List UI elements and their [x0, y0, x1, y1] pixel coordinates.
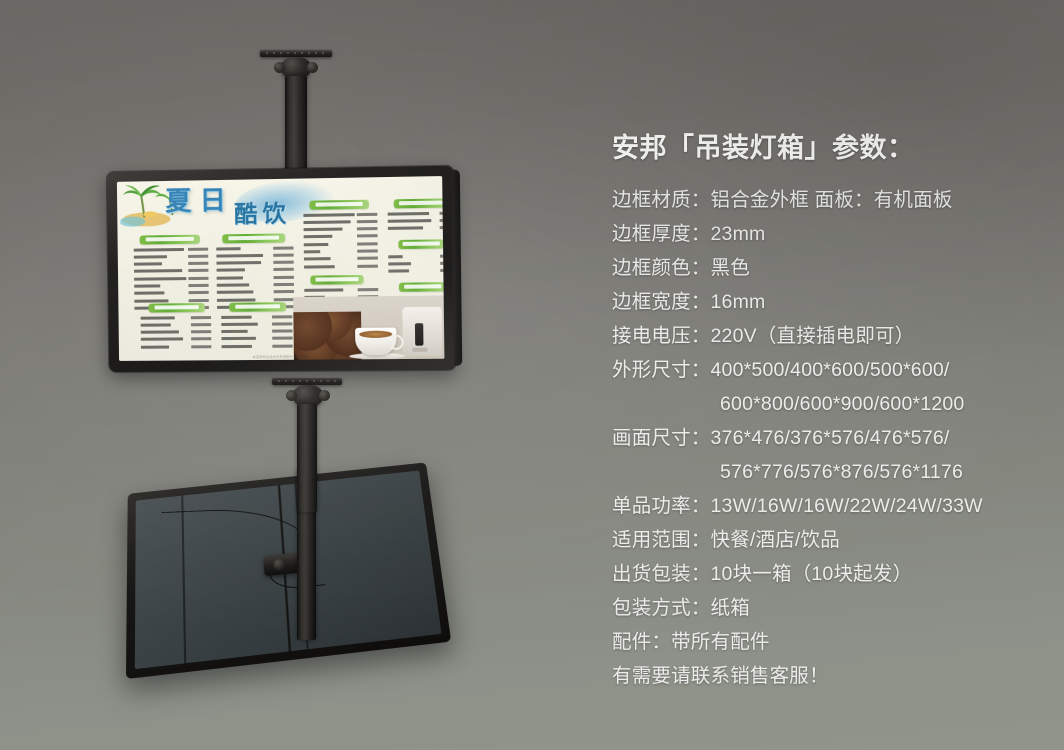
menu-title-char-1: 夏 [165, 189, 192, 216]
menu-section-header [140, 235, 200, 244]
coffee-cup-image [355, 328, 397, 356]
spec-line-outer-size: 外形尺寸：400*500/400*600/500*600/ [612, 361, 1042, 381]
menu-section-rows [388, 211, 445, 234]
tilt-knob-icon [286, 390, 297, 401]
mount-pole [297, 404, 317, 512]
menu-section-rows [303, 212, 378, 272]
menu-section-header [309, 200, 369, 210]
menu-title-char-2: 日 [199, 188, 226, 215]
product-photo-scene: 夏 日 酷 饮 [0, 0, 1064, 750]
coffee-photo [293, 295, 444, 359]
mount-pole [285, 76, 307, 178]
coffee-machine-image [402, 307, 442, 356]
top-ceiling-mount [258, 50, 334, 176]
menu-subtitle-char-2: 饮 [262, 203, 286, 227]
spec-text-block: 安邦「吊装灯箱」参数： 边框材质：铝合金外框 面板：有机面板 边框厚度：23mm… [612, 126, 1042, 701]
spec-line-voltage: 接电电压：220V（直接插电即可） [612, 327, 1042, 347]
menu-section-header [148, 303, 204, 312]
lower-hanging-mount [272, 378, 348, 508]
spec-line-width: 边框宽度：16mm [612, 293, 1042, 313]
tilt-knob-icon [319, 390, 330, 401]
spec-line-material: 边框材质：铝合金外框 面板：有机面板 [612, 191, 1042, 211]
menu-screen: 夏 日 酷 饮 [117, 176, 445, 361]
coffee-beans-image [293, 312, 361, 360]
spec-line-power: 单品功率：13W/16W/16W/22W/24W/33W [612, 497, 1042, 517]
menu-section-header [222, 233, 285, 242]
menu-section-header [394, 198, 445, 208]
menu-poster: 夏 日 酷 饮 [117, 176, 445, 361]
menu-watermark: 本店所有饮品均为现场制作 欢迎品尝 [253, 355, 308, 359]
spec-line-contact: 有需要请联系销售客服！ [612, 667, 1042, 687]
tilt-knob-icon [307, 62, 318, 73]
spec-line-image-size: 画面尺寸：376*476/376*576/476*576/ [612, 429, 1042, 449]
spec-line-accessories: 配件：带所有配件 [612, 633, 1042, 653]
pole-clamp-icon [263, 553, 300, 577]
aluminium-frame: 夏 日 酷 饮 [107, 166, 456, 372]
tilt-knob-icon [274, 62, 285, 73]
menu-section-header [310, 275, 364, 284]
spec-title: 安邦「吊装灯箱」参数： [612, 126, 1042, 165]
menu-section-header [399, 282, 445, 291]
spec-line-image-size-cont: 576*776/576*876/576*1176 [612, 463, 1042, 483]
spec-line-packaging: 包装方式：纸箱 [612, 599, 1042, 619]
menu-section-rows [388, 253, 444, 276]
hanging-lightbox-front: 夏 日 酷 饮 [107, 166, 456, 372]
menu-subtitle-char-1: 酷 [234, 204, 258, 228]
menu-section-rows [141, 315, 212, 352]
mount-plate-icon [272, 378, 342, 385]
menu-section-rows [221, 314, 293, 351]
spec-line-color: 边框颜色：黑色 [612, 259, 1042, 279]
menu-section-header [398, 239, 444, 248]
menu-section-header [229, 302, 286, 311]
spec-line-thickness: 边框厚度：23mm [612, 225, 1042, 245]
ceiling-plate-icon [260, 50, 332, 57]
spec-line-outer-size-cont: 600*800/600*900/600*1200 [612, 395, 1042, 415]
menu-title-art: 夏 日 酷 饮 [163, 184, 316, 233]
spec-line-shipping: 出货包装：10块一箱（10块起发） [612, 565, 1042, 585]
spec-line-usage: 适用范围：快餐/酒店/饮品 [612, 531, 1042, 551]
